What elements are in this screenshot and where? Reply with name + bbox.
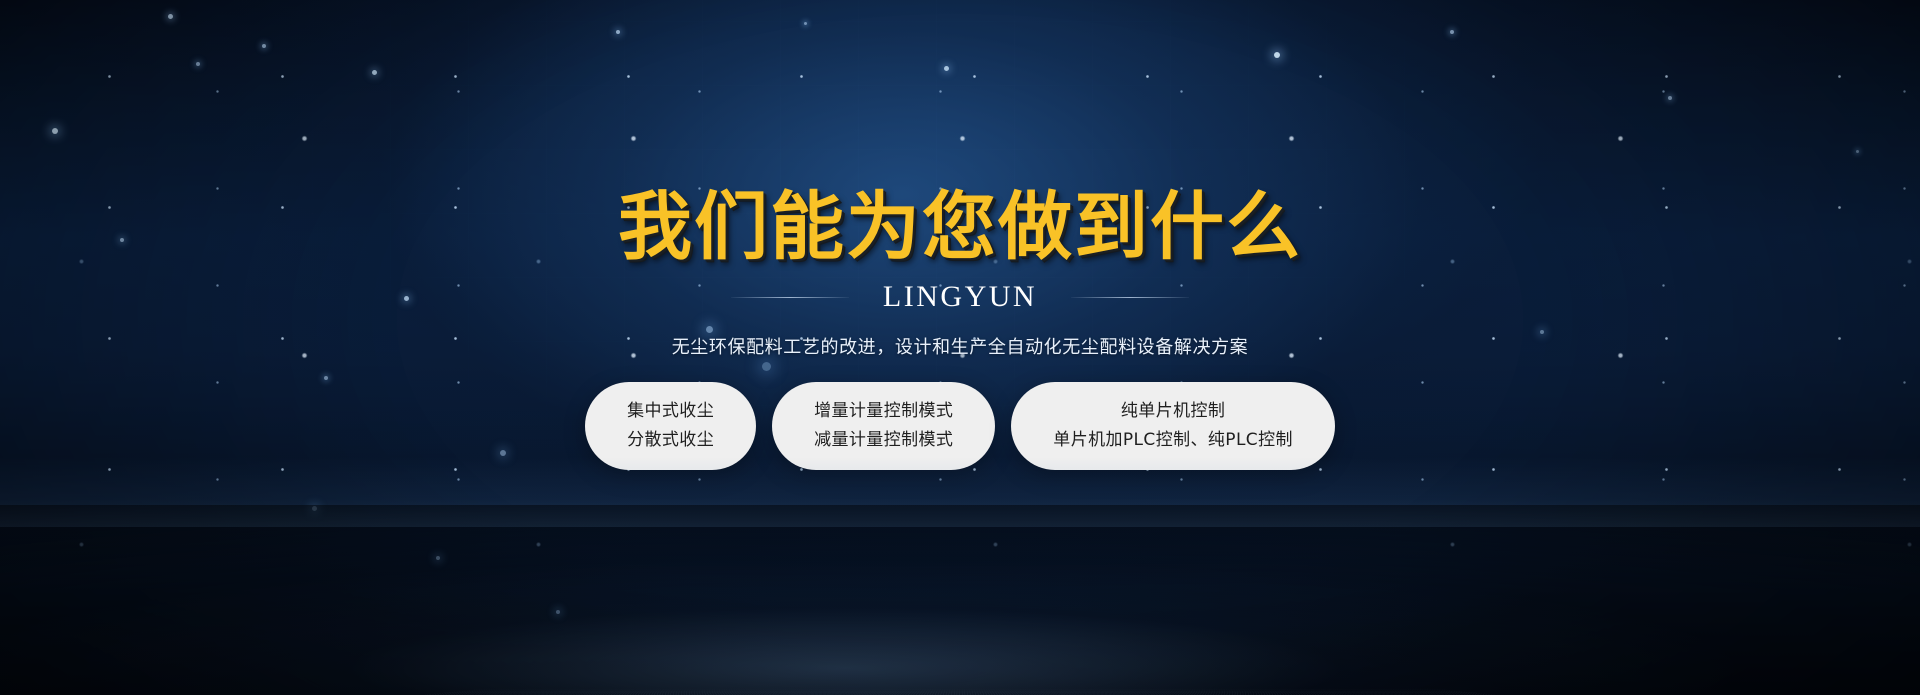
feature-pill-line: 纯单片机控制 [1121, 402, 1225, 422]
feature-pill[interactable]: 纯单片机控制 单片机加PLC控制、纯PLC控制 [1011, 382, 1335, 470]
hero-banner: 我们能为您做到什么 LINGYUN 无尘环保配料工艺的改进，设计和生产全自动化无… [0, 0, 1920, 695]
feature-pill-line: 减量计量控制模式 [814, 431, 953, 451]
page-title: 我们能为您做到什么 [618, 188, 1302, 266]
feature-pill-line: 集中式收尘 [627, 402, 714, 422]
feature-pill[interactable]: 集中式收尘 分散式收尘 [585, 382, 756, 470]
feature-pill[interactable]: 增量计量控制模式 减量计量控制模式 [772, 382, 995, 470]
feature-pill-line: 单片机加PLC控制、纯PLC控制 [1053, 431, 1293, 451]
feature-pill-line: 增量计量控制模式 [814, 402, 953, 422]
brand-rule-row: LINGYUN [731, 280, 1189, 314]
brand-name-en: LINGYUN [883, 280, 1037, 314]
rule-left [731, 297, 849, 298]
feature-pill-line: 分散式收尘 [627, 431, 714, 451]
feature-pill-row: 集中式收尘 分散式收尘 增量计量控制模式 减量计量控制模式 纯单片机控制 单片机… [585, 382, 1335, 470]
banner-content: 我们能为您做到什么 LINGYUN 无尘环保配料工艺的改进，设计和生产全自动化无… [0, 0, 1920, 695]
banner-description: 无尘环保配料工艺的改进，设计和生产全自动化无尘配料设备解决方案 [672, 333, 1249, 359]
rule-right [1071, 297, 1189, 298]
